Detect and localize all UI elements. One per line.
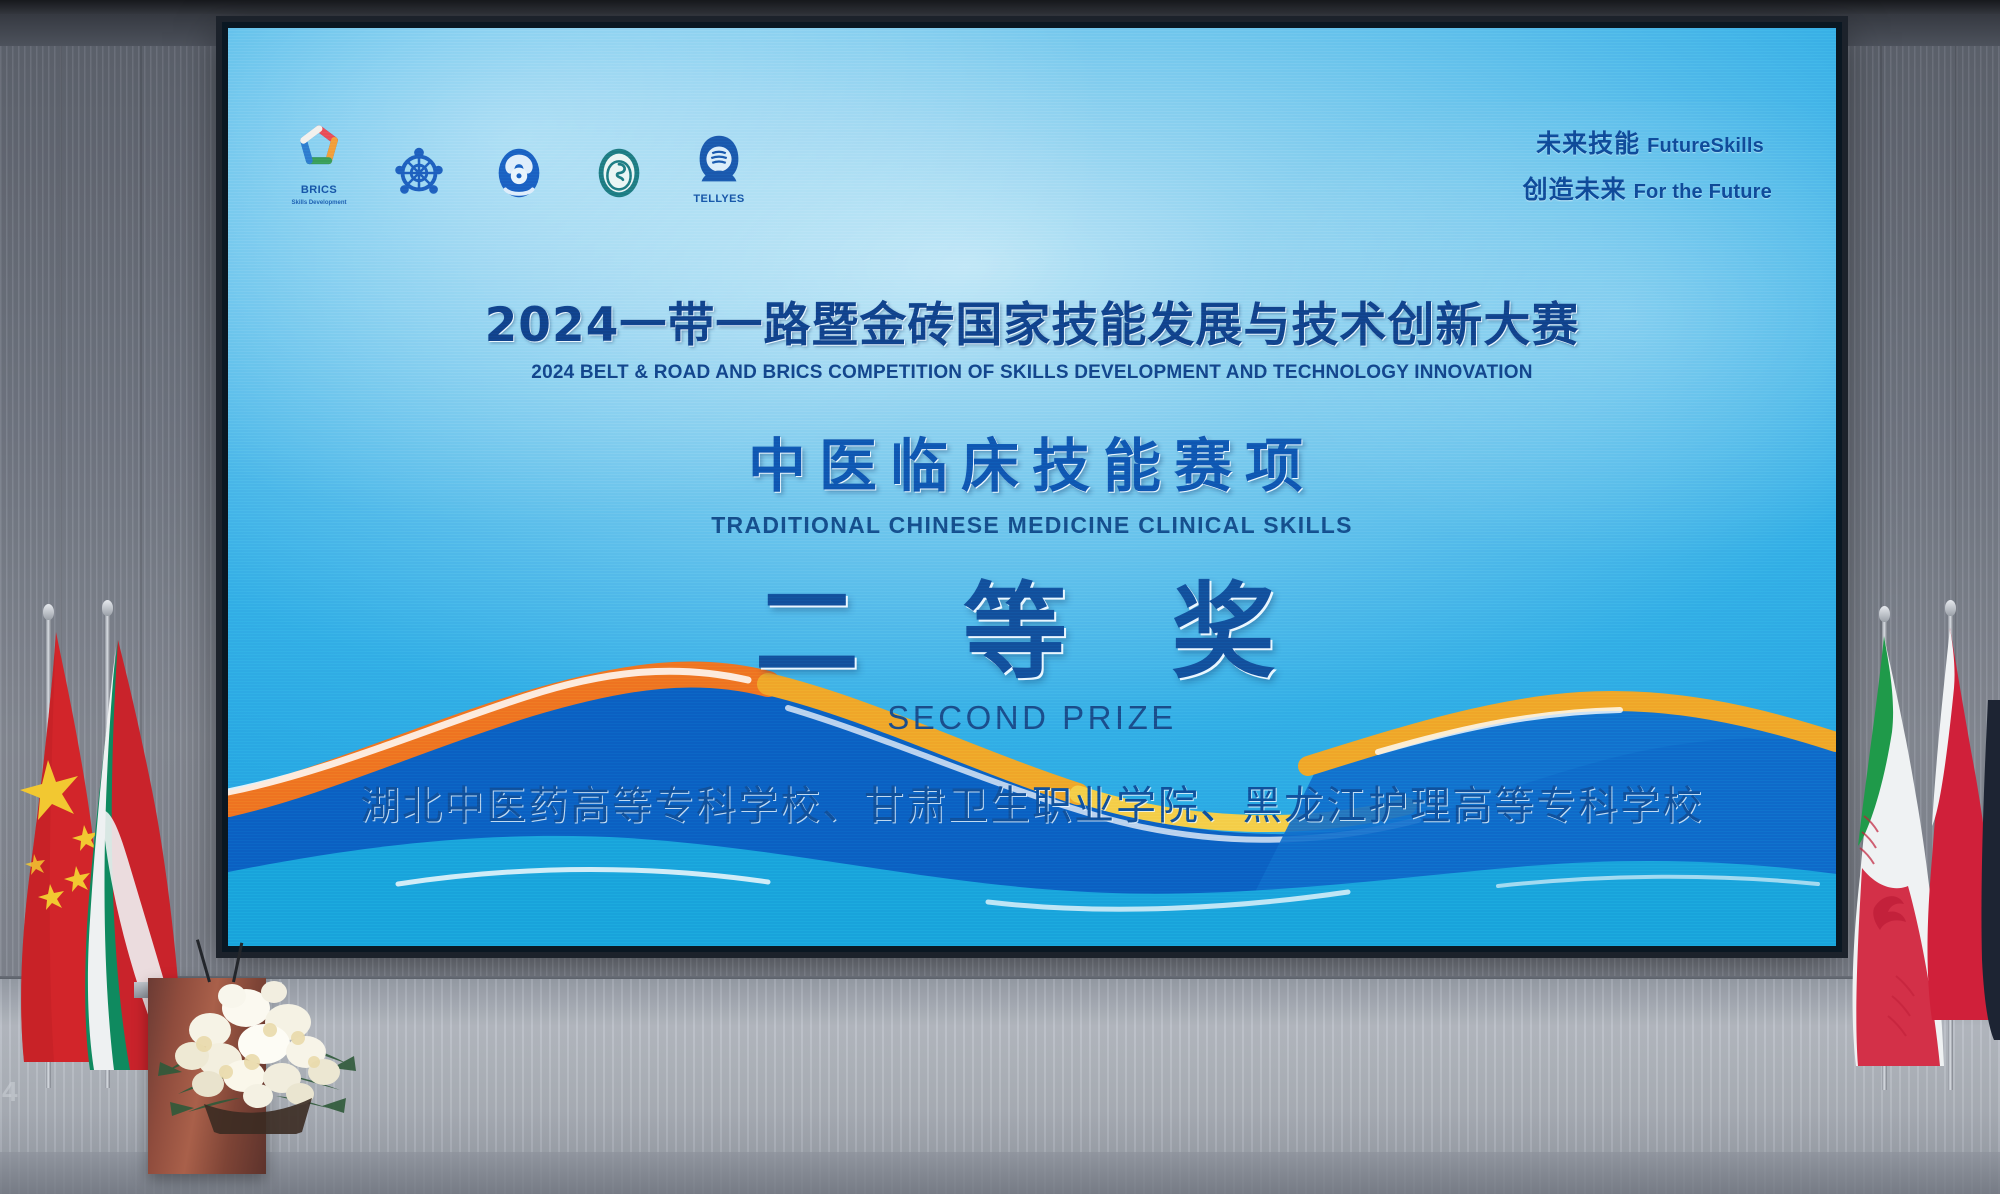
turtle-emblem-icon [388, 141, 450, 203]
led-screen-surface: BRICS Skills Development [228, 28, 1836, 946]
turtle-emblem-logo [382, 141, 456, 206]
sponsor-logo-row: BRICS Skills Development [282, 120, 756, 206]
slogan-line-2: 创造未来 For the Future [1523, 170, 1772, 206]
ceremony-photo: BRICS Skills Development [0, 0, 2000, 1194]
brics-logo-caption: BRICS [301, 185, 337, 197]
green-oval-seal-logo [582, 141, 656, 206]
prize-level-en: SECOND PRIZE [228, 699, 1836, 737]
competition-title-cn: 2024一带一路暨金砖国家技能发展与技术创新大赛 [228, 286, 1836, 355]
tellyes-logo: TELLYES [682, 129, 756, 206]
flag-finial [43, 604, 54, 620]
slogan-line1-cn: 未来技能 [1536, 124, 1640, 160]
brics-logo-subcaption: Skills Development [291, 200, 346, 206]
brics-mark-icon [288, 120, 350, 182]
tellyes-logo-caption: TELLYES [693, 194, 744, 206]
flower-arrangement [148, 944, 368, 1134]
ceiling-beam [0, 0, 2000, 14]
corner-overlay-text: 4 [2, 1076, 18, 1108]
prize-level-cn: 二 等 奖 [228, 579, 1836, 685]
awardee-institutions: 湖北中医药高等专科学校、甘肃卫生职业学院、黑龙江护理高等专科学校 [228, 773, 1836, 831]
flag-finial [102, 600, 113, 616]
brics-logo: BRICS Skills Development [282, 120, 356, 206]
flag-dark [1972, 700, 2000, 1040]
flag-finial [1879, 606, 1890, 622]
event-name-en: TRADITIONAL CHINESE MEDICINE CLINICAL SK… [228, 512, 1836, 539]
futureskills-slogan: 未来技能 FutureSkills 创造未来 For the Future [1523, 124, 1764, 206]
tellyes-mark-icon [688, 129, 750, 191]
competition-title-en: 2024 BELT & ROAD AND BRICS COMPETITION O… [228, 362, 1836, 384]
slogan-line2-en: For the Future [1634, 181, 1772, 204]
slogan-line1-en: FutureSkills [1647, 135, 1764, 158]
slogan-line-1: 未来技能 FutureSkills [1523, 124, 1764, 160]
screen-text-block: 2024一带一路暨金砖国家技能发展与技术创新大赛 2024 BELT & ROA… [228, 286, 1836, 831]
slogan-line2-cn: 创造未来 [1523, 170, 1627, 206]
led-backdrop-screen: BRICS Skills Development [222, 22, 1842, 952]
event-name-cn: 中医临床技能赛项 [228, 419, 1836, 503]
stage-front-step [0, 1152, 2000, 1194]
green-oval-seal-icon [588, 141, 650, 203]
blue-oval-figure-logo [482, 141, 556, 206]
flag-finial [1945, 600, 1956, 616]
blue-oval-figure-icon [488, 141, 550, 203]
